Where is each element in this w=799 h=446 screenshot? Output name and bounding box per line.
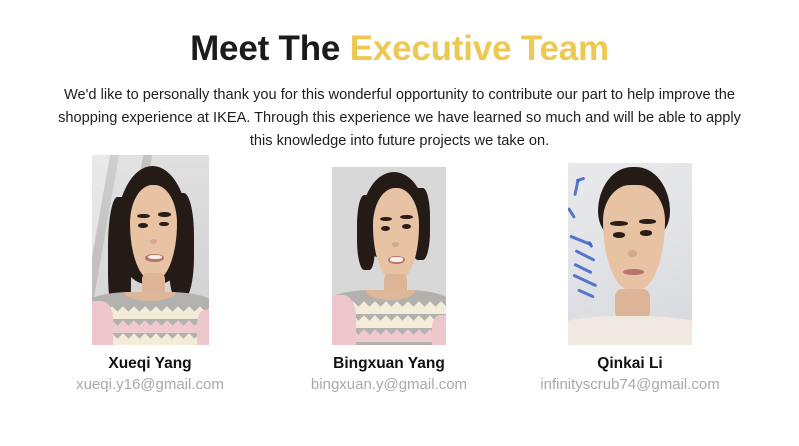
team-member-email[interactable]: bingxuan.y@gmail.com bbox=[294, 374, 484, 395]
team-member-name: Qinkai Li bbox=[536, 354, 724, 374]
team-member-card: Qinkai Li infinityscrub74@gmail.com bbox=[536, 163, 724, 395]
page-title: Meet The Executive Team bbox=[0, 26, 799, 72]
portrait-photo-xueqi-yang bbox=[92, 155, 209, 345]
team-member-name: Bingxuan Yang bbox=[294, 354, 484, 374]
page-title-accent: Executive Team bbox=[350, 29, 609, 68]
team-member-email[interactable]: xueqi.y16@gmail.com bbox=[52, 374, 248, 395]
intro-paragraph: We'd like to personally thank you for th… bbox=[46, 84, 753, 153]
team-member-name: Xueqi Yang bbox=[52, 354, 248, 374]
team-member-email[interactable]: infinityscrub74@gmail.com bbox=[536, 374, 724, 395]
meet-the-team-slide: Meet The Executive Team We'd like to per… bbox=[0, 0, 799, 446]
page-title-plain: Meet The bbox=[190, 29, 350, 68]
team-member-card: Xueqi Yang xueqi.y16@gmail.com bbox=[52, 155, 248, 395]
team-member-list: Xueqi Yang xueqi.y16@gmail.com bbox=[0, 155, 799, 410]
team-member-card: Bingxuan Yang bingxuan.y@gmail.com bbox=[294, 167, 484, 395]
portrait-photo-qinkai-li bbox=[568, 163, 692, 345]
portrait-photo-bingxuan-yang bbox=[332, 167, 446, 345]
